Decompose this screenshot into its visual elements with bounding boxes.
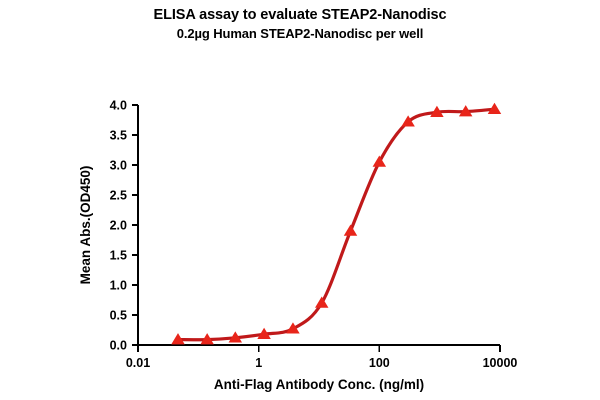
y-axis-title: Mean Abs.(OD450) [78,166,93,285]
y-tick-label: 0.5 [110,309,127,323]
data-point-marker [373,156,385,166]
x-axis-title: Anti-Flag Antibody Conc. (ng/ml) [214,377,424,392]
plot-area: 0.00.51.01.52.02.53.03.54.0 0.0111001000… [0,0,600,400]
y-tick-label: 3.5 [110,129,127,143]
y-tick-label: 3.0 [110,159,127,173]
y-tick-label: 1.0 [110,279,127,293]
data-point-marker [344,225,356,235]
y-tick-label: 2.0 [110,219,127,233]
x-axis-ticks: 0.01110010000 [126,345,518,370]
series-line-anti-flag [178,109,494,340]
y-axis-ticks: 0.00.51.01.52.02.53.03.54.0 [110,99,138,353]
x-tick-label: 0.01 [126,356,150,370]
y-tick-label: 1.5 [110,249,127,263]
y-tick-label: 2.5 [110,189,127,203]
data-point-marker [316,297,328,307]
y-tick-label: 0.0 [110,339,127,353]
y-tick-label: 4.0 [110,99,127,113]
x-tick-label: 100 [369,356,390,370]
series-markers-anti-flag [172,103,501,344]
elisa-chart-figure: ELISA assay to evaluate STEAP2-Nanodisc … [0,0,600,400]
x-tick-label: 1 [255,356,262,370]
x-tick-label: 10000 [483,356,518,370]
